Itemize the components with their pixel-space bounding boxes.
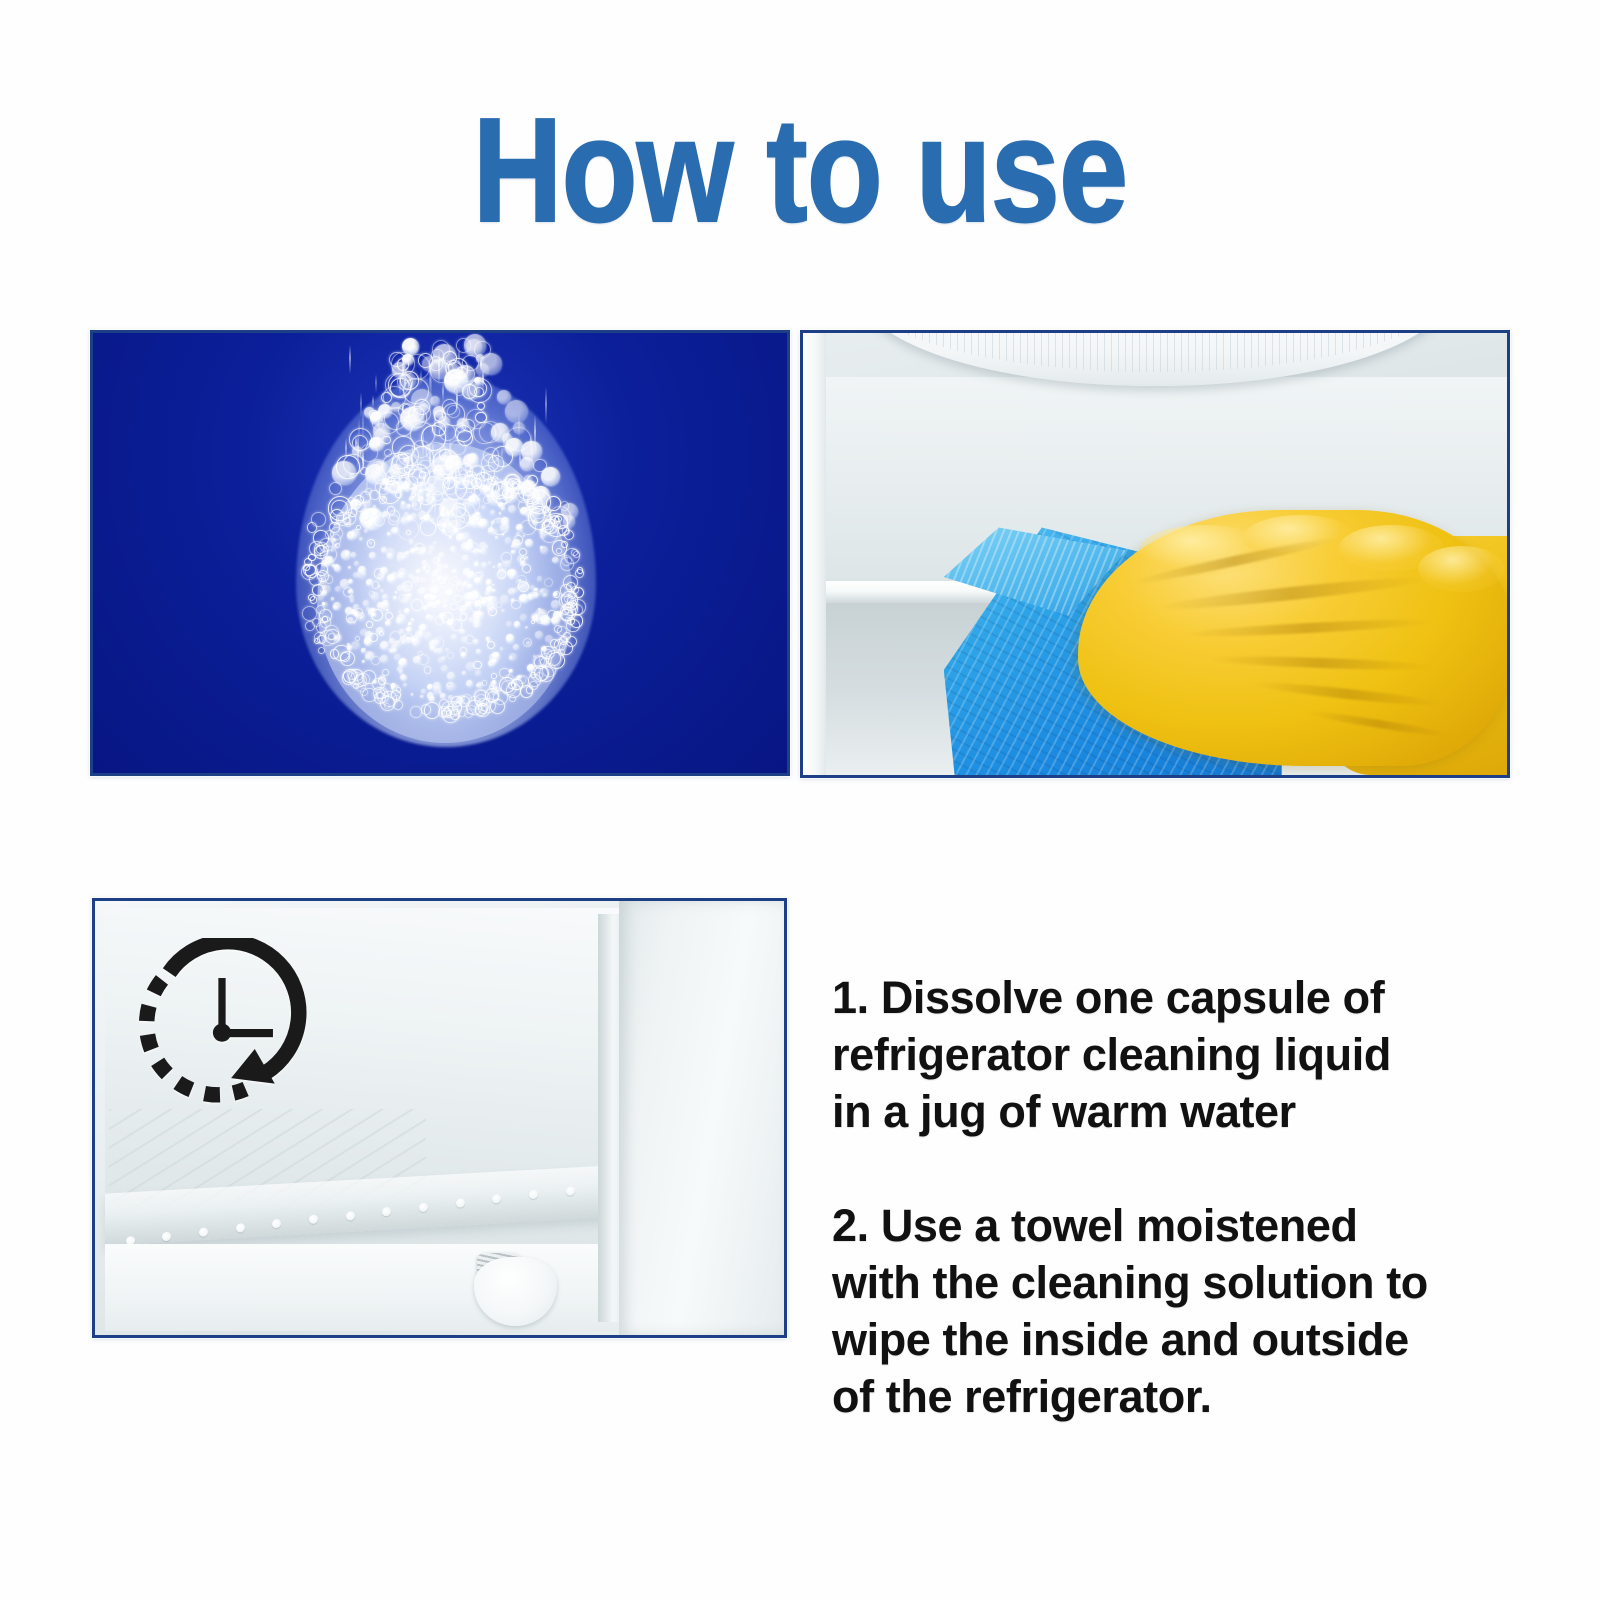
glove-crease xyxy=(1156,573,1426,614)
glove-crease xyxy=(1182,616,1435,639)
glove-crease xyxy=(1305,708,1453,739)
clean-fridge-interior-with-clock-photo xyxy=(92,898,787,1338)
instruction-step-2: 2. Use a towel moistened with the cleani… xyxy=(832,1197,1532,1425)
fridge-shelf-dot xyxy=(492,1194,501,1204)
glove-knuckle xyxy=(1418,546,1505,592)
effervescent-tablet-dissolving-photo xyxy=(90,330,790,776)
glove-crease xyxy=(1208,655,1435,673)
fridge-shelf-dot xyxy=(199,1227,208,1237)
yellow-rubber-glove-hand xyxy=(1078,510,1510,766)
fridge-shelf-dot xyxy=(345,1211,354,1221)
gloved-hand-wiping-fridge-photo xyxy=(800,330,1510,778)
fridge-shelf-dot xyxy=(235,1223,244,1233)
glove-crease xyxy=(1252,679,1444,709)
fridge-shelf-dot xyxy=(162,1232,171,1242)
instruction-step-1: 1. Dissolve one capsule of refrigerator … xyxy=(832,969,1532,1140)
clock-arrow-icon xyxy=(131,938,313,1120)
fridge-shelf-dot xyxy=(529,1190,538,1200)
fridge-shelf-dot xyxy=(419,1203,428,1213)
fridge-shelf-dot xyxy=(272,1219,281,1229)
fridge-door-edge xyxy=(803,333,826,775)
fridge-shelf-dot xyxy=(565,1186,574,1196)
fridge-open-door xyxy=(619,901,784,1335)
page-title: How to use xyxy=(128,96,1472,246)
fridge-shelf-dot xyxy=(455,1198,464,1208)
instructions-text-block: 1. Dissolve one capsule of refrigerator … xyxy=(832,912,1532,1482)
fridge-shelf-dot xyxy=(382,1207,391,1217)
fridge-shelf-dot xyxy=(309,1215,318,1225)
